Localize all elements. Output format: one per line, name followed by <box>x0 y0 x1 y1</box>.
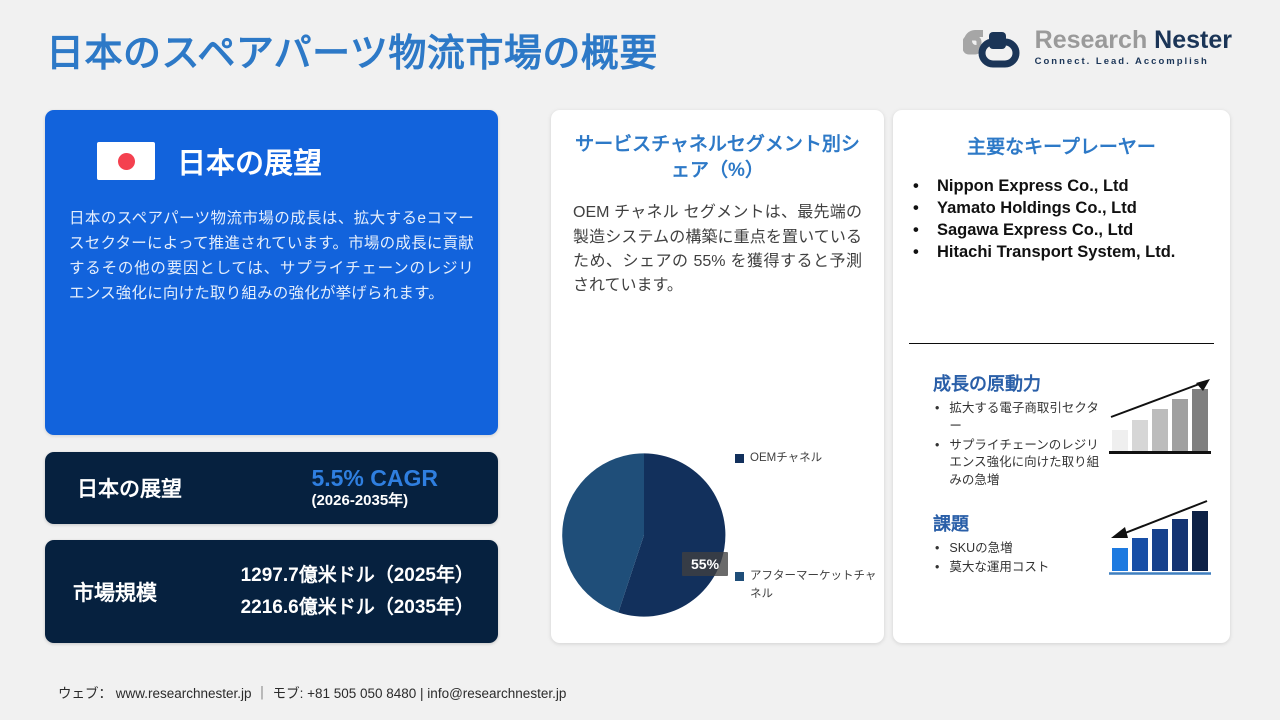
market-size-values: 1297.7億米ドル（2025年） 2216.6億米ドル（2035年） <box>241 560 474 623</box>
grey-bar-chart-up-arrow-icon <box>1106 375 1214 460</box>
pie-legend: OEMチャネル アフターマーケットチャネル <box>735 450 885 603</box>
pie-chart-svg <box>559 450 729 620</box>
service-channel-share-card: サービスチャネルセグメント別シェア（%） OEM チャネル セグメントは、最先端… <box>551 110 884 643</box>
footer-contact: ウェブ： www.researchnester.jp ｜ モブ: +81 505… <box>58 682 566 702</box>
legend-label-aftermarket: アフターマーケットチャネル <box>750 568 885 604</box>
logo-tagline: Connect. Lead. Accomplish <box>1035 56 1232 67</box>
logo-name-research: Research <box>1035 26 1148 54</box>
legend-swatch-aftermarket <box>735 572 744 581</box>
section-divider <box>909 343 1214 344</box>
bullet-icon: • <box>935 540 939 558</box>
growth-driver-text: 拡大する電子商取引セクター <box>949 400 1100 436</box>
bullet-icon: • <box>935 437 939 490</box>
outlook-body-text: 日本のスペアパーツ物流市場の成長は、拡大するeコマースセクターによって推進されて… <box>69 206 474 306</box>
bullet-icon: • <box>913 197 919 219</box>
key-players-list: • Nippon Express Co., Ltd • Yamato Holdi… <box>913 175 1214 263</box>
challenges-title: 課題 <box>933 510 1109 536</box>
growth-drivers-list: • 拡大する電子商取引セクター • サプライチェーンのレジリエンス強化に向けた取… <box>935 400 1100 490</box>
cagr-values: 5.5% CAGR (2026-2035年) <box>311 465 438 510</box>
legend-swatch-oem <box>735 454 744 463</box>
bullet-icon: • <box>935 400 939 436</box>
cagr-card: 日本の展望 5.5% CAGR (2026-2035年) <box>45 452 498 524</box>
list-item: • Hitachi Transport System, Ltd. <box>913 241 1214 263</box>
page-header: 日本のスペアパーツ物流市場の概要 Research Nester Connect… <box>0 0 1280 96</box>
share-card-body: OEM チャネル セグメントは、最先端の製造システムの構築に重点を置いているため… <box>567 201 868 298</box>
outlook-heading: 日本の展望 <box>177 140 322 182</box>
legend-item-oem: OEMチャネル <box>735 450 885 468</box>
player-name: Nippon Express Co., Ltd <box>937 175 1129 197</box>
outlook-card-header: 日本の展望 <box>97 140 474 182</box>
logo-text: Research Nester Connect. Lead. Accomplis… <box>1035 27 1232 67</box>
cagr-period: (2026-2035年) <box>311 492 438 511</box>
bullet-icon: • <box>913 175 919 197</box>
blue-bar-chart-arrow-icon <box>1106 495 1214 580</box>
player-name: Yamato Holdings Co., Ltd <box>937 197 1137 219</box>
logo-name-nester: Nester <box>1154 26 1232 54</box>
cagr-value: 5.5% CAGR <box>311 465 438 491</box>
legend-label-oem: OEMチャネル <box>750 450 822 468</box>
market-size-2035: 2216.6億米ドル（2035年） <box>241 592 474 623</box>
challenge-text: 莫大な運用コスト <box>949 559 1049 577</box>
japan-flag-icon <box>97 142 155 180</box>
cagr-label: 日本の展望 <box>77 473 182 503</box>
pie-data-label-oem: 55% <box>682 552 728 576</box>
list-item: • Nippon Express Co., Ltd <box>913 175 1214 197</box>
key-players-card: 主要なキープレーヤー • Nippon Express Co., Ltd • Y… <box>893 110 1230 643</box>
list-item: • Sagawa Express Co., Ltd <box>913 219 1214 241</box>
bullet-icon: • <box>935 559 939 577</box>
market-size-label: 市場規模 <box>73 577 157 607</box>
list-item: • 莫大な運用コスト <box>935 559 1100 577</box>
challenges-section: 課題 • SKUの急増 • 莫大な運用コスト <box>909 510 1109 578</box>
logo-name: Research Nester <box>1035 27 1232 53</box>
list-item: • サプライチェーンのレジリエンス強化に向けた取り組みの急増 <box>935 437 1100 490</box>
market-size-card: 市場規模 1297.7億米ドル（2025年） 2216.6億米ドル（2035年） <box>45 540 498 643</box>
japan-outlook-card: 日本の展望 日本のスペアパーツ物流市場の成長は、拡大するeコマースセクターによっ… <box>45 110 498 435</box>
page-title: 日本のスペアパーツ物流市場の概要 <box>46 22 658 77</box>
bullet-icon: • <box>913 241 919 263</box>
list-item: • SKUの急増 <box>935 540 1100 558</box>
bullet-icon: • <box>913 219 919 241</box>
player-name: Sagawa Express Co., Ltd <box>937 219 1133 241</box>
list-item: • 拡大する電子商取引セクター <box>935 400 1100 436</box>
legend-item-aftermarket: アフターマーケットチャネル <box>735 568 885 604</box>
market-size-2025: 1297.7億米ドル（2025年） <box>241 560 474 591</box>
challenge-text: SKUの急増 <box>949 540 1012 558</box>
player-name: Hitachi Transport System, Ltd. <box>937 241 1175 263</box>
pie-chart: 55% OEMチャネル アフターマーケットチャネル <box>551 440 884 640</box>
infographic-page: 日本のスペアパーツ物流市場の概要 Research Nester Connect… <box>0 0 1280 720</box>
growth-drivers-section: 成長の原動力 • 拡大する電子商取引セクター • サプライチェーンのレジリエンス… <box>909 370 1109 491</box>
key-players-title: 主要なキープレーヤー <box>909 132 1214 159</box>
growth-driver-text: サプライチェーンのレジリエンス強化に向けた取り組みの急増 <box>949 437 1100 490</box>
share-card-title: サービスチャネルセグメント別シェア（%） <box>567 132 868 183</box>
japan-flag-sun <box>118 153 135 170</box>
brand-logo: Research Nester Connect. Lead. Accomplis… <box>963 26 1232 68</box>
interlocking-links-logo-icon <box>963 26 1025 68</box>
list-item: • Yamato Holdings Co., Ltd <box>913 197 1214 219</box>
growth-drivers-title: 成長の原動力 <box>933 370 1109 396</box>
challenges-list: • SKUの急増 • 莫大な運用コスト <box>935 540 1100 577</box>
